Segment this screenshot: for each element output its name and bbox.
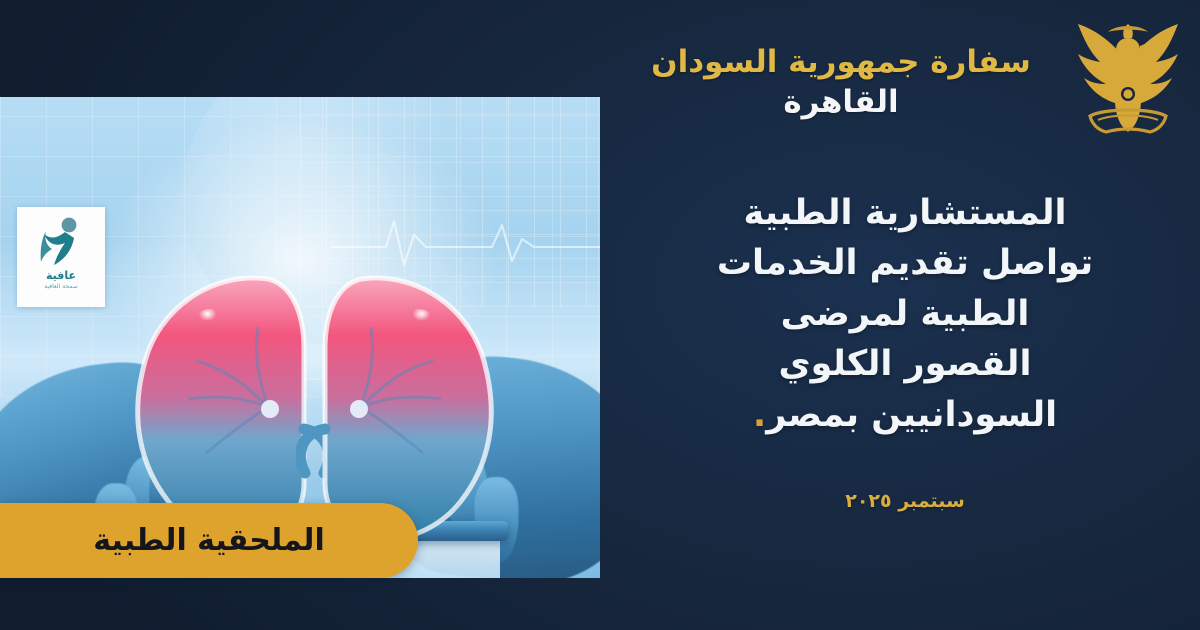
aafia-logo-name: عافية: [46, 269, 76, 282]
embassy-header: سفارة جمهورية السودان القاهرة: [624, 22, 1184, 142]
embassy-title-group: سفارة جمهورية السودان القاهرة: [624, 22, 1058, 122]
embassy-city: القاهرة: [624, 83, 1058, 122]
poster-canvas: عافية سمحة العافية الملحقية الطبية: [0, 0, 1200, 630]
aafia-swoosh-figure-icon: [38, 216, 84, 266]
aafia-logo-box: عافية سمحة العافية: [17, 207, 105, 307]
headline-line: تواصل تقديم الخدمات: [632, 238, 1178, 288]
headline-line-last: السودانيين بمصر.: [632, 390, 1178, 440]
banner-label: الملحقية الطبية: [93, 523, 324, 558]
headline-line: المستشارية الطبية: [632, 188, 1178, 238]
aafia-logo-subtitle: سمحة العافية: [44, 283, 78, 290]
right-content-column: سفارة جمهورية السودان القاهرة المستشارية…: [620, 0, 1200, 630]
headline-block: المستشارية الطبية تواصل تقديم الخدمات ال…: [632, 188, 1178, 440]
sudan-coat-of-arms-icon: [1072, 16, 1184, 144]
publication-date: سبتمبر ٢٠٢٥: [632, 490, 1178, 512]
headline-period: .: [753, 395, 766, 435]
headline-line-text: السودانيين بمصر: [766, 395, 1057, 435]
medical-attache-banner: الملحقية الطبية: [0, 503, 418, 578]
headline-line: القصور الكلوي: [632, 339, 1178, 389]
headline-line: الطبية لمرضى: [632, 289, 1178, 339]
embassy-name: سفارة جمهورية السودان: [624, 44, 1058, 81]
